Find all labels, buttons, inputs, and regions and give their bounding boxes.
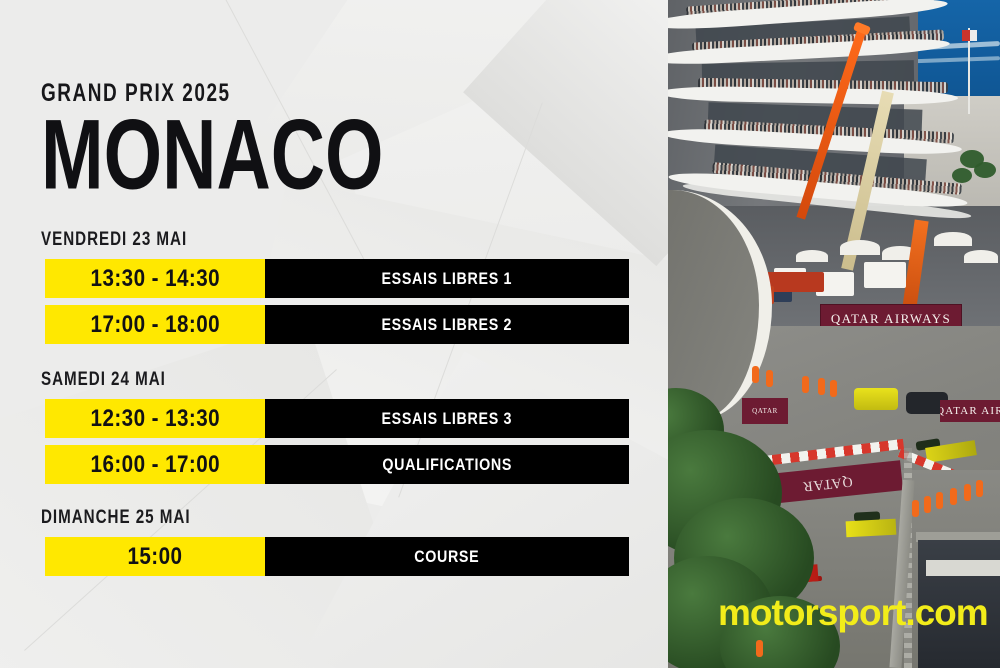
qatar-banner-small: QATAR [742,398,788,424]
session-event-cell: ESSAIS LIBRES 2 [265,305,629,344]
session-event-cell: ESSAIS LIBRES 3 [265,399,629,438]
session-time-cell: 16:00 - 17:00 [45,445,265,484]
day-label: DIMANCHE 25 MAI [41,507,511,529]
day-group-sunday: DIMANCHE 25 MAI 15:00 COURSE [41,507,629,576]
marshal [830,380,837,397]
marshal [976,480,983,497]
formula1-car-yellow [846,519,897,538]
session-event: ESSAIS LIBRES 1 [382,269,513,289]
session-row: 13:30 - 14:30 ESSAIS LIBRES 1 [45,259,629,298]
page-title: MONACO [41,109,384,201]
session-row: 15:00 COURSE [45,537,629,576]
session-row: 16:00 - 17:00 QUALIFICATIONS [45,445,629,484]
parasol [796,250,828,262]
marshal [766,370,773,387]
session-time: 15:00 [128,543,183,571]
day-label: VENDREDI 23 MAI [41,229,511,251]
safety-car [854,388,898,410]
marshal [964,484,971,501]
session-row: 17:00 - 18:00 ESSAIS LIBRES 2 [45,305,629,344]
session-time-cell: 17:00 - 18:00 [45,305,265,344]
monaco-circuit-photo: QATAR AIRWAYS QATAR QATAR AIR QATAR [668,0,1000,668]
day-group-saturday: SAMEDI 24 MAI 12:30 - 13:30 ESSAIS LIBRE… [41,369,629,484]
day-group-friday: VENDREDI 23 MAI 13:30 - 14:30 ESSAIS LIB… [41,229,629,344]
qatar-airways-banner-edge-text: QATAR AIR [940,405,1000,417]
session-time-cell: 12:30 - 13:30 [45,399,265,438]
background-facet [463,0,668,266]
motorsport-logo: motorsport.com [718,592,988,634]
parasol [934,232,972,246]
marshal [818,378,825,395]
session-time: 16:00 - 17:00 [90,451,220,479]
session-event: ESSAIS LIBRES 2 [382,315,513,335]
monaco-gp-schedule-poster: GRAND PRIX 2025 MONACO VENDREDI 23 MAI 1… [0,0,1000,668]
session-time-cell: 15:00 [45,537,265,576]
session-event: QUALIFICATIONS [382,455,512,475]
session-event-cell: ESSAIS LIBRES 1 [265,259,629,298]
day-label: SAMEDI 24 MAI [41,369,511,391]
track-sponsor-paint-text: QATAR [801,472,853,493]
marshal [912,500,919,517]
session-time: 17:00 - 18:00 [90,311,220,339]
session-time: 12:30 - 13:30 [90,405,220,433]
paddock-truck [864,262,906,288]
marshal [936,492,943,509]
marshal [950,488,957,505]
parasol [964,250,998,263]
session-event-cell: QUALIFICATIONS [265,445,629,484]
qatar-airways-banner-text: QATAR AIRWAYS [831,311,951,327]
session-event: COURSE [414,547,479,567]
marshal [756,640,763,657]
palm-tree [952,168,972,183]
session-time-cell: 13:30 - 14:30 [45,259,265,298]
palm-tree [974,162,996,178]
pit-structure [926,560,1000,576]
monaco-flag [962,30,977,41]
marshal [924,496,931,513]
marshal [752,366,759,383]
session-event: ESSAIS LIBRES 3 [382,409,513,429]
session-time: 13:30 - 14:30 [90,265,220,293]
schedule-panel: GRAND PRIX 2025 MONACO VENDREDI 23 MAI 1… [0,0,668,668]
qatar-banner-small-text: QATAR [752,407,778,415]
marshal [802,376,809,393]
parasol [840,240,880,255]
qatar-airways-banner-edge: QATAR AIR [940,400,1000,422]
session-row: 12:30 - 13:30 ESSAIS LIBRES 3 [45,399,629,438]
session-event-cell: COURSE [265,537,629,576]
